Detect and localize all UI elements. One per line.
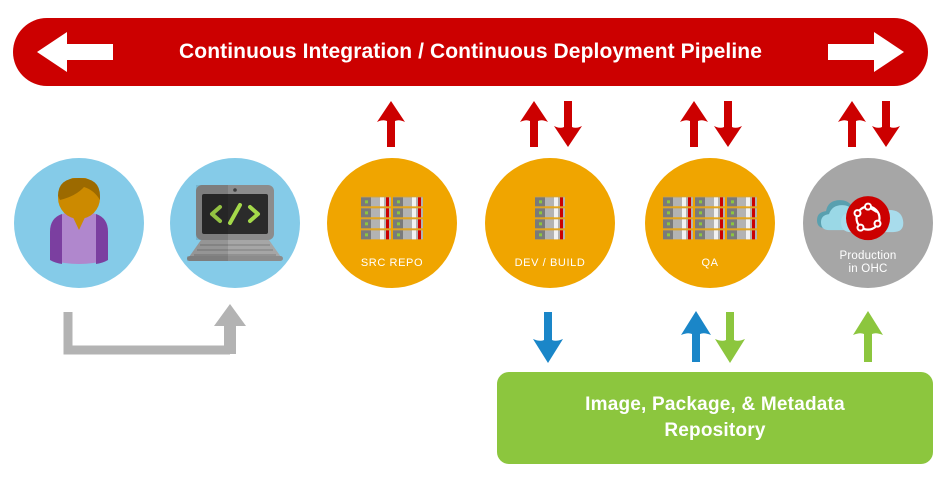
repository-title: Image, Package, & Metadata Repository — [585, 392, 845, 444]
arrow-down-icon-qa — [712, 100, 744, 148]
node-production[interactable]: Production in OHC — [803, 158, 933, 288]
feedback-connector-arrow — [60, 298, 250, 360]
arrow-down-icon-qa-to-repo — [713, 310, 747, 364]
arrow-down-icon-dev-build — [552, 100, 584, 148]
pipeline-banner-title: Continuous Integration / Continuous Depl… — [179, 40, 762, 64]
node-qa[interactable]: QA — [645, 158, 775, 288]
node-label-dev-build: DEV / BUILD — [485, 257, 615, 270]
repository-box[interactable]: Image, Package, & Metadata Repository — [497, 372, 933, 464]
arrow-left-icon — [35, 30, 115, 74]
arrow-up-icon-src-repo — [375, 100, 407, 148]
node-workstation[interactable] — [170, 158, 300, 288]
arrow-down-icon-production — [870, 100, 902, 148]
cloud-openshift-icon — [815, 178, 921, 246]
person-icon — [36, 178, 122, 268]
diagram-canvas: Continuous Integration / Continuous Depl… — [0, 0, 941, 500]
node-label-qa: QA — [645, 257, 775, 270]
node-src-repo[interactable]: SRC REPO — [327, 158, 457, 288]
arrow-up-icon-repo-to-qa — [679, 310, 713, 364]
arrow-up-icon-production — [836, 100, 868, 148]
laptop-code-icon — [183, 183, 287, 263]
node-label-production: Production in OHC — [803, 250, 933, 276]
arrow-up-icon-qa — [678, 100, 710, 148]
node-developer[interactable] — [14, 158, 144, 288]
arrow-right-icon — [826, 30, 906, 74]
server-rack-icon-dev-build — [535, 196, 565, 239]
node-label-src-repo: SRC REPO — [327, 257, 457, 270]
server-rack-icon-qa — [663, 196, 757, 239]
arrow-up-icon-repo-to-production — [851, 310, 885, 364]
server-rack-icon-src-repo — [361, 196, 423, 239]
arrow-up-icon-dev-build — [518, 100, 550, 148]
pipeline-banner: Continuous Integration / Continuous Depl… — [13, 18, 928, 86]
node-dev-build[interactable]: DEV / BUILD — [485, 158, 615, 288]
arrow-down-icon-dev-build-to-repo — [531, 310, 565, 364]
